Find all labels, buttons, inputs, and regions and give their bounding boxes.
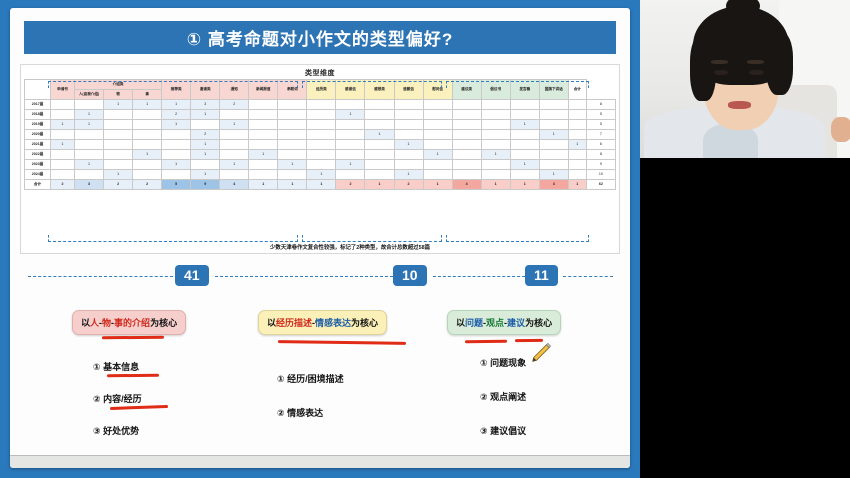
table-cell-g1-6 [220,170,249,180]
concept-box-segment-0: 以 [456,318,465,328]
table-cell-g2-2 [394,130,423,140]
table-cell-g1-1 [75,130,104,140]
table-cell-g1-8 [278,110,307,120]
table-cell-g1-4 [162,140,191,150]
table-cell-g1-5: 1 [191,140,220,150]
table-cell-g1-7 [249,110,278,120]
table-cell-g1-4 [162,130,191,140]
table-cell-g2-1 [365,140,394,150]
table-cell-g1-9 [307,100,336,110]
concept-box-segment-1: 问题 [465,318,483,328]
table-total-g1-8: 1 [278,180,307,190]
table-total-g1-1: 3 [75,180,104,190]
table-cell-g3-3 [568,150,586,160]
table-cell-total: 7 [586,130,615,140]
concept-box-narrative: 以经历描述-情感表达为核心 [258,310,387,335]
table-cell-g2-1 [365,160,394,170]
count-badge-narrative: 10 [393,265,427,286]
table-cell-g1-5: 1 [191,110,220,120]
table-cell-g3-3 [568,100,586,110]
table-cell-g1-4: 1 [162,160,191,170]
table-cell-g1-1: 1 [75,120,104,130]
table-row-year: 2022届 [25,150,51,160]
table-cell-g2-3 [423,140,452,150]
table-cell-g1-0 [51,160,75,170]
table-row: 2017届111328 [25,100,616,110]
table-cell-g3-0 [481,140,510,150]
webcam-mouth [728,101,751,109]
table-total-g2-2: 2 [394,180,423,190]
group-bracket-narrative-bottom [302,235,442,242]
list-item: ② 观点阐述 [480,390,526,403]
table-cell-g2-3 [423,160,452,170]
table-cell-g1-8 [278,120,307,130]
slide-canvas: ① 高考命题对小作文的类型偏好? 类型维度 申请书 介绍类 推荐类 邀请类 通知 [10,8,630,468]
table-cell-g3-0 [481,170,510,180]
table-cell-g1-0: 1 [51,120,75,130]
table-cell-g1-7 [249,140,278,150]
table-total-g3-3: 1 [568,180,586,190]
connector-line-left [28,276,178,277]
table-total-g2-1: 1 [365,180,394,190]
table-cell-g2-3 [423,170,452,180]
th-g1-sub-0: 人(自我介绍) [75,90,104,100]
table-cell-g1-5: 1 [191,150,220,160]
table-cell-g1-7 [249,170,278,180]
slide-frame: ① 高考命题对小作文的类型偏好? 类型维度 申请书 介绍类 推荐类 邀请类 通知 [0,0,640,478]
annotation-stroke-list-1 [107,374,159,377]
webcam-eyebrow-right [747,60,764,63]
table-cell-g1-8: 1 [278,160,307,170]
table-cell-g3-1 [510,150,539,160]
table-total-g3-0: 1 [481,180,510,190]
statistics-table: 申请书 介绍类 推荐类 邀请类 通知 新闻报道 串联词 经历类 感谢信 感想类 … [24,79,616,190]
table-cell-g2-1 [365,110,394,120]
table-cell-g3-3 [568,160,586,170]
table-cell-g1-2 [104,110,133,120]
table-cell-g2-2 [394,110,423,120]
table-cell-g1-3 [133,170,162,180]
table-cell-g1-7 [249,100,278,110]
table-cell-g1-1: 1 [75,110,104,120]
th-g1-sub-1: 物 [104,90,133,100]
table-cell-g1-4 [162,170,191,180]
table-cell-g1-3 [133,130,162,140]
table-cell-g2-2 [394,100,423,110]
table-cell-g1-2 [104,140,133,150]
table-cell-g1-8 [278,130,307,140]
count-badge-argument: 11 [525,265,558,286]
table-cell-g3-2 [539,160,568,170]
table-cell-g2-1: 1 [365,130,394,140]
table-cell-g2-4 [452,150,481,160]
table-cell-total: 10 [586,170,615,180]
table-cell-g1-2 [104,120,133,130]
list-item: ① 经历/困境描述 [277,372,344,385]
concept-box-segment-5: 事的介绍 [114,318,150,328]
table-row-year: 2021届 [25,140,51,150]
table-cell-g3-2: 1 [539,130,568,140]
table-cell-g2-1 [365,170,394,180]
table-total-row: 合计232259411121214113162 [25,180,616,190]
table-cell-g1-5 [191,120,220,130]
table-footnote: 少数天津卷作文复合性较强，标记了2种类型，故合计总数超过58篇 [185,242,515,252]
webcam-hand [831,117,850,142]
table-cell-g1-5 [191,160,220,170]
table-cell-total: 8 [586,100,615,110]
webcam-letterbox [640,158,850,478]
table-cell-g1-6: 2 [220,100,249,110]
webcam-hair-right [766,32,793,95]
table-cell-g3-0 [481,160,510,170]
table-cell-g1-9 [307,120,336,130]
table-cell-g2-2: 1 [394,170,423,180]
webcam-eye-left [714,70,729,76]
table-cell-g3-1 [510,100,539,110]
table-cell-g1-8 [278,140,307,150]
table-total-g3-2: 3 [539,180,568,190]
table-cell-g1-3 [133,110,162,120]
table-cell-g3-2 [539,120,568,130]
concept-list-argument: ① 问题现象② 观点阐述③ 建议倡议 [480,356,526,458]
table-cell-g1-6 [220,140,249,150]
table-cell-g3-1: 1 [510,120,539,130]
table-cell-g3-0 [481,110,510,120]
concept-box-segment-3: 情感表达 [315,318,351,328]
table-cell-g2-3: 1 [423,150,452,160]
table-cell-g1-1 [75,140,104,150]
table-body: 2017届1113282018届121152019届1111152020届211… [25,100,616,190]
table-cell-g2-3 [423,120,452,130]
concept-box-argument: 以问题-观点-建议为核心 [447,310,561,335]
table-cell-g1-3: 1 [133,100,162,110]
table-cell-g2-4 [452,130,481,140]
table-cell-g1-2 [104,150,133,160]
webcam-video[interactable] [640,0,850,158]
table-cell-g1-9 [307,140,336,150]
concept-list-narrative: ① 经历/困境描述② 情感表达 [277,372,344,440]
concept-box-segment-6: 为核心 [150,318,177,328]
table-total-g1-7: 1 [249,180,278,190]
table-cell-g2-4 [452,160,481,170]
table-cell-g1-9 [307,130,336,140]
table-cell-g1-4: 1 [162,100,191,110]
table-cell-g3-0 [481,120,510,130]
concept-box-segment-0: 以 [267,318,276,328]
table-row-year: 2018届 [25,110,51,120]
table-cell-total: 9 [586,160,615,170]
statistics-table-card: 类型维度 申请书 介绍类 推荐类 邀请类 通知 新闻报道 串联词 经历类 [20,64,620,254]
table-cell-g2-0: 1 [336,160,365,170]
table-row-year: 2023届 [25,160,51,170]
table-cell-g2-4 [452,140,481,150]
table-cell-g1-6 [220,130,249,140]
table-cell-g1-1: 1 [75,160,104,170]
table-total-g1-2: 2 [104,180,133,190]
table-row-year: 2024届 [25,170,51,180]
connector-line-mid-b [433,276,525,277]
table-row: 2022届111118 [25,150,616,160]
group-bracket-narrative [302,81,442,88]
table-row: 2023届1111119 [25,160,616,170]
table-title: 类型维度 [21,65,619,79]
table-cell-g3-1 [510,130,539,140]
table-cell-g3-3 [568,110,586,120]
table-cell-g2-0 [336,140,365,150]
table-row: 2020届2117 [25,130,616,140]
list-item: ③ 建议倡议 [480,424,526,437]
table-cell-total: 6 [586,140,615,150]
table-total-g1-0: 2 [51,180,75,190]
table-cell-g1-1 [75,100,104,110]
slide-title-bar: ① 高考命题对小作文的类型偏好? [24,21,616,54]
group-bracket-argument-bottom [446,235,589,242]
pencil-cursor-icon [530,342,552,364]
table-row: 2021届11116 [25,140,616,150]
table-total-g2-3: 1 [423,180,452,190]
table-cell-g1-8 [278,170,307,180]
table-corner-cell [25,80,51,100]
table-cell-g3-2 [539,150,568,160]
instructor-webcam-panel[interactable] [640,0,850,478]
table-cell-g1-5: 1 [191,170,220,180]
table-total-label: 合计 [25,180,51,190]
th-g1-sub-2: 事 [133,90,162,100]
table-cell-g2-0 [336,170,365,180]
concept-box-segment-4: 为核心 [351,318,378,328]
table-cell-g3-3: 1 [568,140,586,150]
list-item: ② 情感表达 [277,406,344,419]
concept-box-segment-5: 建议 [507,318,525,328]
table-cell-g3-3 [568,170,586,180]
table-cell-g1-6: 1 [220,160,249,170]
table-cell-g1-3: 1 [133,150,162,160]
table-cell-g2-4 [452,120,481,130]
annotation-stroke-2 [278,340,406,345]
table-total-g1-6: 4 [220,180,249,190]
table-cell-g1-9: 1 [307,170,336,180]
table-cell-g2-3 [423,130,452,140]
table-cell-g1-1 [75,150,104,160]
table-cell-g1-2: 1 [104,170,133,180]
table-grand-total: 62 [586,180,615,190]
table-cell-g2-2 [394,150,423,160]
connector-line-mid-a [215,276,393,277]
table-cell-g1-2 [104,130,133,140]
table-cell-total: 8 [586,150,615,160]
table-cell-g2-0 [336,150,365,160]
table-cell-g3-1 [510,110,539,120]
screen: ① 高考命题对小作文的类型偏好? 类型维度 申请书 介绍类 推荐类 邀请类 通知 [0,0,850,478]
table-cell-g1-7 [249,160,278,170]
table-cell-total: 5 [586,120,615,130]
webcam-eyebrow-left [711,60,728,63]
table-cell-g1-2: 1 [104,100,133,110]
webcam-eye-right [749,70,764,76]
table-cell-g3-3 [568,130,586,140]
table-cell-g1-1 [75,170,104,180]
table-cell-g1-0 [51,110,75,120]
table-cell-g1-7 [249,120,278,130]
table-cell-g2-0: 1 [336,110,365,120]
table-cell-g2-2: 1 [394,140,423,150]
table-row: 2018届12115 [25,110,616,120]
table-cell-g1-3 [133,140,162,150]
table-cell-g2-1 [365,120,394,130]
table-cell-g3-1 [510,170,539,180]
table-cell-g1-4: 2 [162,110,191,120]
table-cell-g2-4 [452,170,481,180]
table-cell-g2-1 [365,100,394,110]
group-bracket-argument [446,81,589,88]
table-cell-g2-3 [423,110,452,120]
table-total-g2-0: 2 [336,180,365,190]
table-cell-g2-2 [394,160,423,170]
table-cell-g3-3 [568,120,586,130]
table-cell-g1-4: 1 [162,120,191,130]
table-cell-g1-7 [249,130,278,140]
table-row-year: 2017届 [25,100,51,110]
table-cell-g2-0 [336,130,365,140]
table-cell-g3-2 [539,100,568,110]
table-cell-g1-3 [133,120,162,130]
concept-box-segment-1: 人 [90,318,99,328]
concept-box-segment-0: 以 [81,318,90,328]
table-row-year: 2019届 [25,120,51,130]
table-total-g1-9: 1 [307,180,336,190]
concept-box-segment-1: 经历描述 [276,318,312,328]
table-row: 2024届1111110 [25,170,616,180]
table-cell-g2-0 [336,100,365,110]
table-cell-g1-0 [51,170,75,180]
table-total-g1-4: 5 [162,180,191,190]
table-cell-g1-9 [307,110,336,120]
concept-box-segment-6: 为核心 [525,318,552,328]
table-cell-g3-0 [481,130,510,140]
table-cell-g2-4 [452,100,481,110]
table-cell-g1-6: 1 [220,120,249,130]
table-cell-g1-8 [278,150,307,160]
table-cell-g1-0 [51,150,75,160]
table-cell-g3-0: 1 [481,150,510,160]
group-bracket-introduction-bottom [48,235,298,242]
connector-line-right [563,276,613,277]
table-cell-g1-9 [307,160,336,170]
list-item: ③ 好处优势 [93,424,142,437]
table-cell-g2-2 [394,120,423,130]
concept-box-segment-3: 物 [102,318,111,328]
annotation-stroke-3 [465,340,507,343]
page-title: ① 高考命题对小作文的类型偏好? [187,25,454,50]
table-cell-g3-1 [510,140,539,150]
table-cell-g3-2 [539,140,568,150]
table-cell-g1-4 [162,150,191,160]
table-cell-g1-6 [220,150,249,160]
table-cell-g3-2 [539,110,568,120]
table-cell-g1-9 [307,150,336,160]
table-cell-g3-0 [481,100,510,110]
table-cell-g2-1 [365,150,394,160]
table-cell-g1-6 [220,110,249,120]
table-cell-g1-7: 1 [249,150,278,160]
table-cell-g1-5: 2 [191,130,220,140]
list-item: ① 基本信息 [93,360,142,373]
annotation-stroke-1 [102,336,164,340]
list-item: ① 问题现象 [480,356,526,369]
webcam-hair-left [690,35,715,101]
table-cell-g2-3 [423,100,452,110]
table-cell-g3-2: 1 [539,170,568,180]
table-total-g1-5: 9 [191,180,220,190]
concept-box-segment-3: 观点 [486,318,504,328]
table-cell-g1-5: 3 [191,100,220,110]
table-row: 2019届111115 [25,120,616,130]
table-cell-g2-4 [452,110,481,120]
count-badge-introduction: 41 [175,265,209,286]
table-cell-g1-3 [133,160,162,170]
table-cell-g1-8 [278,100,307,110]
table-cell-g1-0 [51,130,75,140]
group-bracket-introduction [48,81,298,88]
table-total-g3-1: 1 [510,180,539,190]
table-cell-g3-1: 1 [510,160,539,170]
table-cell-total: 5 [586,110,615,120]
table-cell-g1-0 [51,100,75,110]
table-cell-g1-2 [104,160,133,170]
list-item: ② 内容/经历 [93,392,142,405]
table-cell-g2-0 [336,120,365,130]
table-cell-g1-0: 1 [51,140,75,150]
concept-box-introduction: 以人-物-事的介绍为核心 [72,310,186,335]
table-row-year: 2020届 [25,130,51,140]
table-total-g1-3: 2 [133,180,162,190]
table-total-g2-4: 4 [452,180,481,190]
